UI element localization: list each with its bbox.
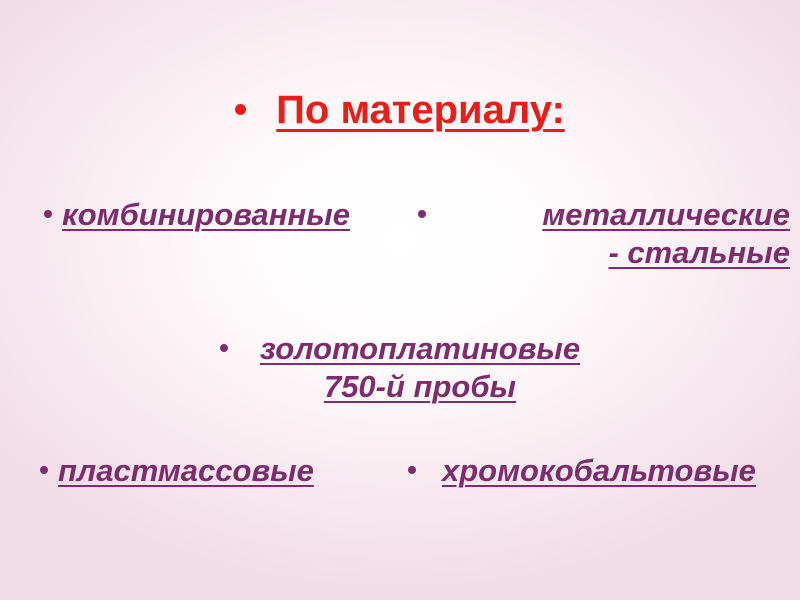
list-item-line-steel: - стальные	[452, 234, 790, 272]
list-item-line-metal: металлические	[452, 196, 790, 234]
slide-canvas: По материалу: комбинированные металличес…	[0, 0, 800, 600]
bullet-icon-chrome-cobalt	[408, 466, 416, 474]
list-item-line-gold-platinum: золотоплатиновые	[260, 330, 580, 368]
list-item-gold-platinum: золотоплатиновые 750-й пробы	[0, 330, 800, 406]
list-item-label-metal-steel: металлические - стальные	[452, 196, 790, 272]
slide-title-row: По материалу:	[0, 88, 800, 133]
list-item-line-750-proba: 750-й пробы	[260, 368, 580, 406]
list-item-label-plastic: пластмассовые	[58, 452, 314, 490]
list-item-chrome-cobalt: хромокобальтовые	[400, 452, 800, 490]
list-item-label-gold-platinum: золотоплатиновые 750-й пробы	[260, 330, 580, 406]
list-item-label-chrome-cobalt: хромокобальтовые	[442, 452, 756, 490]
bullet-icon-combined	[44, 210, 52, 218]
bullet-icon-gold-platinum	[220, 344, 228, 352]
list-item-label-combined: комбинированные	[62, 196, 350, 234]
list-item-plastic: пластмассовые	[0, 452, 400, 490]
bullet-icon-metal-steel	[418, 210, 426, 218]
page-title: По материалу:	[276, 88, 565, 133]
list-item-combined: комбинированные	[0, 196, 400, 234]
materials-row-top: комбинированные металлические - стальные	[0, 196, 800, 272]
list-item-metal-steel: металлические - стальные	[400, 196, 800, 272]
bullet-icon-plastic	[40, 466, 48, 474]
materials-row-bottom: пластмассовые хромокобальтовые	[0, 452, 800, 490]
bullet-icon-title	[235, 104, 246, 115]
